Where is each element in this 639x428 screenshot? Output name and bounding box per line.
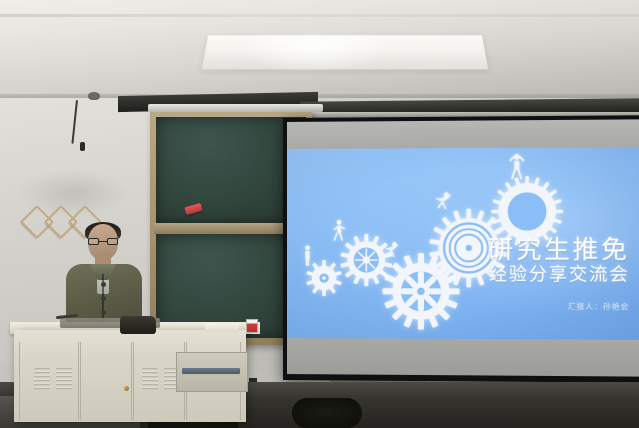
podium-white-device: [205, 323, 239, 332]
slide-subtitle: 经验分享交流会: [488, 264, 630, 286]
podium-shelf-item: [182, 368, 240, 374]
eyeglass-bridge: [99, 241, 107, 242]
figure-celebrating-icon: [508, 153, 526, 181]
cabinet-vent: [56, 368, 72, 390]
classroom-photo: 研究生推免 经验分享交流会 汇报人：孙艳会: [0, 0, 639, 428]
hanging-cable-tip: [80, 142, 85, 151]
cabinet-knob[interactable]: [124, 386, 129, 391]
blackboard-top-rail: [148, 104, 323, 112]
figure-walking-icon: [332, 219, 346, 243]
figure-running-high-icon: [434, 191, 451, 213]
presenter-button: [101, 310, 106, 315]
cabinet-door[interactable]: [19, 342, 79, 420]
cabinet-door[interactable]: [80, 342, 132, 420]
floor-shadow-object: [292, 398, 362, 428]
ceiling-light-glow: [245, 36, 385, 70]
eyeglass-lens: [88, 238, 99, 245]
presenter-button: [101, 296, 106, 301]
figure-standing-icon: [301, 245, 314, 267]
ceiling-sensor-icon: [88, 92, 100, 100]
projection-screen[interactable]: 研究生推免 经验分享交流会 汇报人：孙艳会: [283, 115, 639, 383]
figure-running-low-icon: [383, 241, 398, 261]
cabinet-vent: [34, 368, 50, 390]
slide-presenter-line: 汇报人：孙艳会: [488, 300, 630, 312]
screen-bottom-blank-band: [287, 338, 639, 377]
presenter-button: [101, 282, 106, 287]
eyeglasses-icon: [88, 238, 118, 245]
slide-text-block: 研究生推免 经验分享交流会 汇报人：孙艳会: [488, 237, 630, 312]
projection-screen-surface: 研究生推免 经验分享交流会 汇报人：孙艳会: [287, 119, 639, 376]
dark-bag: [120, 316, 156, 334]
ceiling-seam: [0, 14, 639, 17]
presenter: [64, 224, 146, 328]
red-box: [246, 319, 258, 333]
presentation-slide: 研究生推免 经验分享交流会 汇报人：孙艳会: [287, 147, 639, 340]
cabinet-vent: [142, 368, 158, 390]
slide-title: 研究生推免: [488, 237, 630, 264]
eyeglass-lens: [107, 238, 118, 245]
screen-top-blank-band: [287, 119, 639, 149]
